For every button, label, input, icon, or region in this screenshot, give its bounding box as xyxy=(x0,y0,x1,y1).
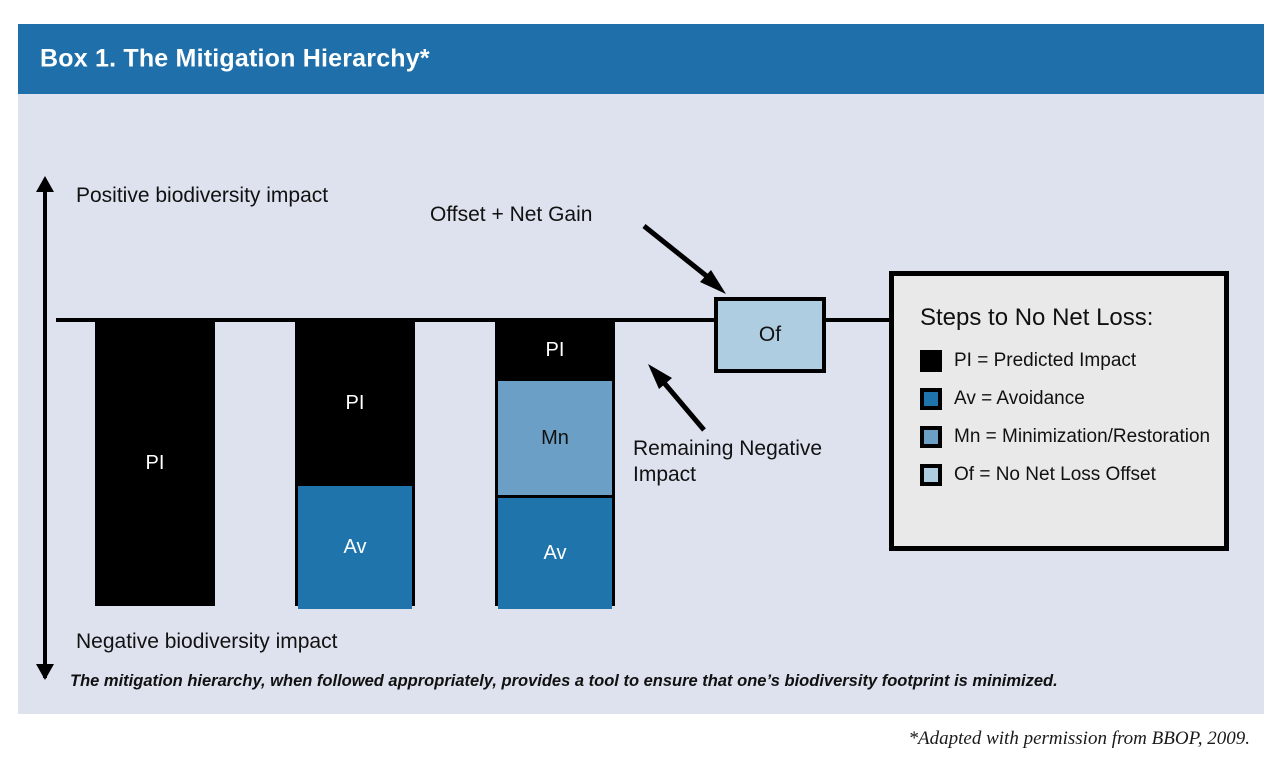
box-body: Positive biodiversity impact Negative bi… xyxy=(18,94,1264,714)
annotation-offset-net-gain: Offset + Net Gain xyxy=(430,202,592,228)
legend-title: Steps to No Net Loss: xyxy=(920,304,1204,332)
box-header: Box 1. The Mitigation Hierarchy* xyxy=(18,24,1264,94)
legend-label-pi: PI = Predicted Impact xyxy=(954,350,1136,372)
legend-item-pi: PI = Predicted Impact xyxy=(920,350,1204,372)
axis-line xyxy=(43,190,47,678)
legend-swatch-of-icon xyxy=(920,464,942,486)
axis-label-positive: Positive biodiversity impact xyxy=(76,184,328,208)
bar-segment-pi: PI xyxy=(98,323,212,603)
bar-predicted-impact: PI xyxy=(95,320,215,606)
legend-label-of: Of = No Net Loss Offset xyxy=(954,464,1156,486)
box-caption: The mitigation hierarchy, when followed … xyxy=(70,672,1220,691)
bar-avoidance: PI Av xyxy=(295,320,415,606)
legend-swatch-mn-icon xyxy=(920,426,942,448)
arrow-to-offset-icon xyxy=(638,220,738,306)
mitigation-hierarchy-diagram: Positive biodiversity impact Negative bi… xyxy=(18,94,1264,654)
bar-minimization: PI Mn Av xyxy=(495,320,615,606)
bar-segment-mn: Mn xyxy=(498,378,612,495)
box-title: Box 1. The Mitigation Hierarchy* xyxy=(40,45,430,74)
bar-segment-pi: PI xyxy=(298,323,412,483)
offset-baseline-extension xyxy=(824,318,888,322)
legend-swatch-av-icon xyxy=(920,388,942,410)
axis-label-negative: Negative biodiversity impact xyxy=(76,630,337,654)
bar-segment-av: Av xyxy=(498,495,612,609)
bar-segment-av: Av xyxy=(298,483,412,609)
arrow-to-remaining-impact-icon xyxy=(646,362,746,442)
arrow-up-icon xyxy=(36,176,54,192)
bar-segment-pi: PI xyxy=(498,323,612,378)
legend-label-mn: Mn = Minimization/Restoration xyxy=(954,426,1210,448)
legend-label-av: Av = Avoidance xyxy=(954,388,1085,410)
box-container: Box 1. The Mitigation Hierarchy* Positiv… xyxy=(18,24,1264,714)
legend-item-mn: Mn = Minimization/Restoration xyxy=(920,426,1204,448)
legend-panel: Steps to No Net Loss: PI = Predicted Imp… xyxy=(889,271,1229,551)
arrow-down-icon xyxy=(36,664,54,680)
footnote: *Adapted with permission from BBOP, 2009… xyxy=(18,728,1250,750)
legend-item-av: Av = Avoidance xyxy=(920,388,1204,410)
legend-swatch-pi-icon xyxy=(920,350,942,372)
annotation-remaining-negative-impact: Remaining Negative Impact xyxy=(633,436,848,489)
legend-item-of: Of = No Net Loss Offset xyxy=(920,464,1204,486)
